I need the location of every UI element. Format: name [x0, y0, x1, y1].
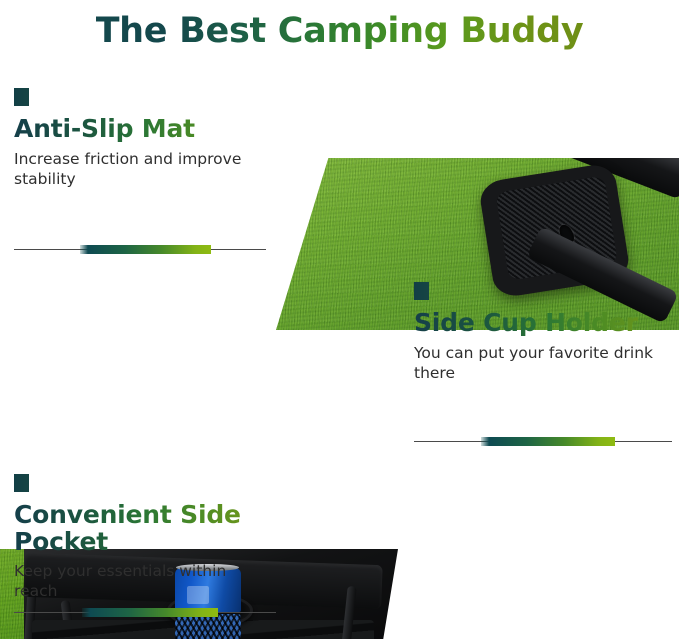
feature-body: Keep your essentials within reach: [14, 562, 272, 602]
feature-row-side-cup-holder: Side Cup Holder You can put your favorit…: [0, 272, 679, 452]
feature-text-anti-slip-mat: Anti-Slip Mat Increase friction and impr…: [14, 78, 272, 190]
feature-heading: Anti-Slip Mat: [14, 115, 272, 143]
feature-text-side-pocket: Convenient Side Pocket Keep your essenti…: [14, 464, 272, 602]
feature-text-side-cup-holder: Side Cup Holder You can put your favorit…: [414, 272, 672, 384]
section-divider-1: [14, 245, 266, 254]
feature-row-anti-slip-mat: Anti-Slip Mat Increase friction and impr…: [0, 78, 679, 258]
play-triangle-icon: [14, 88, 29, 106]
feature-heading: Side Cup Holder: [414, 309, 672, 337]
divider-gradient-bar: [80, 245, 211, 254]
page-title: The Best Camping Buddy: [96, 11, 584, 51]
play-triangle-icon: [14, 474, 29, 492]
section-divider-2: [414, 437, 672, 446]
feature-body: Increase friction and improve stability: [14, 150, 272, 190]
section-divider-3: [14, 608, 276, 617]
feature-body: You can put your favorite drink there: [414, 344, 672, 384]
divider-gradient-bar: [481, 437, 615, 446]
feature-heading: Convenient Side Pocket: [14, 501, 272, 555]
infographic-page: The Best Camping Buddy Anti-Slip Mat Inc…: [0, 0, 679, 639]
page-title-container: The Best Camping Buddy: [0, 0, 679, 62]
divider-gradient-bar: [82, 608, 218, 617]
play-triangle-icon: [414, 282, 429, 300]
feature-row-convenient-side-pocket: CAPTIVATING Southern style: [0, 464, 679, 639]
